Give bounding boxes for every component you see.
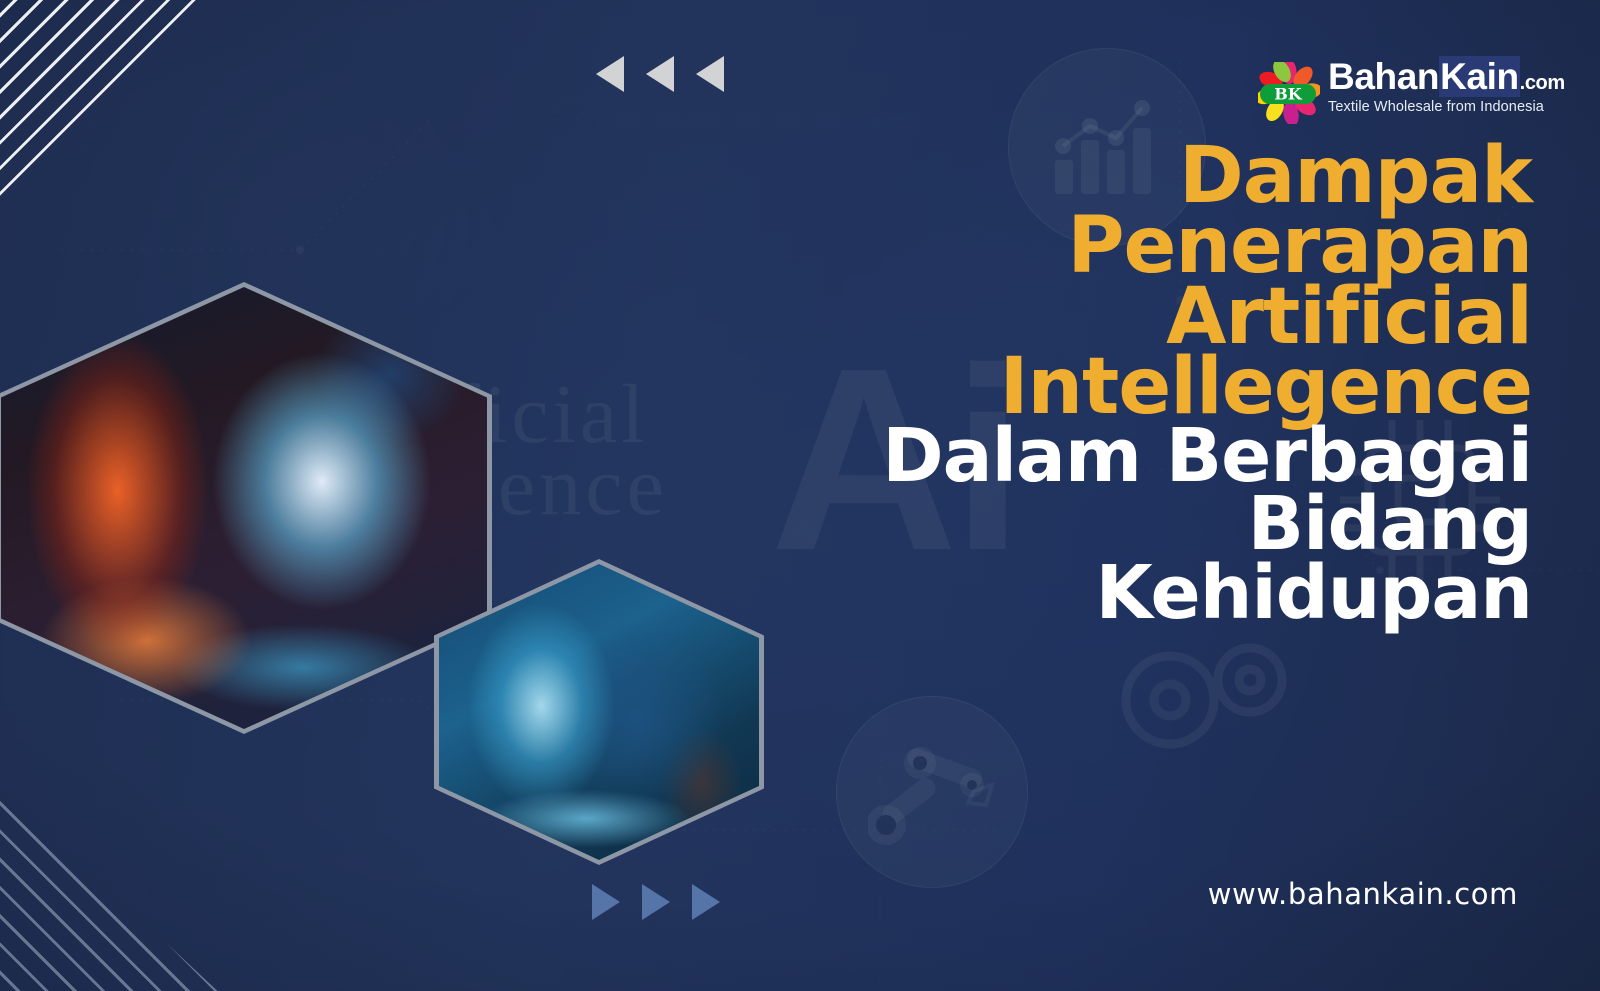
hexagon-photo-clip bbox=[1, 287, 487, 729]
poster-canvas: ficial gence Ai bbox=[0, 0, 1600, 991]
right-triangle-icon bbox=[642, 884, 670, 920]
arrow-group-bottom bbox=[592, 884, 720, 920]
bk-flower-logo-icon: BK bbox=[1258, 62, 1320, 124]
brand-name-tld: .com bbox=[1520, 72, 1565, 94]
brand-logo-text: BahanKain.com Textile Wholesale from Ind… bbox=[1328, 58, 1565, 115]
brand-tagline: Textile Wholesale from Indonesia bbox=[1328, 99, 1565, 115]
hexagon-photo-clip bbox=[439, 564, 759, 860]
svg-text:BK: BK bbox=[1274, 85, 1303, 104]
page-title: Dampak Penerapan Artificial Intellegence… bbox=[812, 138, 1532, 625]
photo-hexagon-woman-headphones bbox=[0, 282, 492, 734]
woman-headphones-smartphone-photo bbox=[1, 287, 487, 729]
right-triangle-icon bbox=[592, 884, 620, 920]
left-triangle-icon bbox=[646, 56, 674, 92]
arrow-group-top bbox=[596, 56, 724, 92]
brand-name-part2: Kain bbox=[1439, 56, 1520, 97]
left-triangle-icon bbox=[696, 56, 724, 92]
right-triangle-icon bbox=[692, 884, 720, 920]
brand-name-part1: Bahan bbox=[1328, 56, 1439, 97]
left-triangle-icon bbox=[596, 56, 624, 92]
brand-name: BahanKain.com bbox=[1328, 58, 1565, 95]
website-url[interactable]: www.bahankain.com bbox=[1208, 877, 1518, 911]
headline-line-7: Kehidupan bbox=[812, 557, 1532, 630]
hands-holding-smartphone-photo bbox=[439, 564, 759, 860]
brand-logo[interactable]: BK BahanKain.com Textile Wholesale from … bbox=[1258, 58, 1565, 124]
photo-hexagon-hands-phone bbox=[434, 559, 764, 865]
